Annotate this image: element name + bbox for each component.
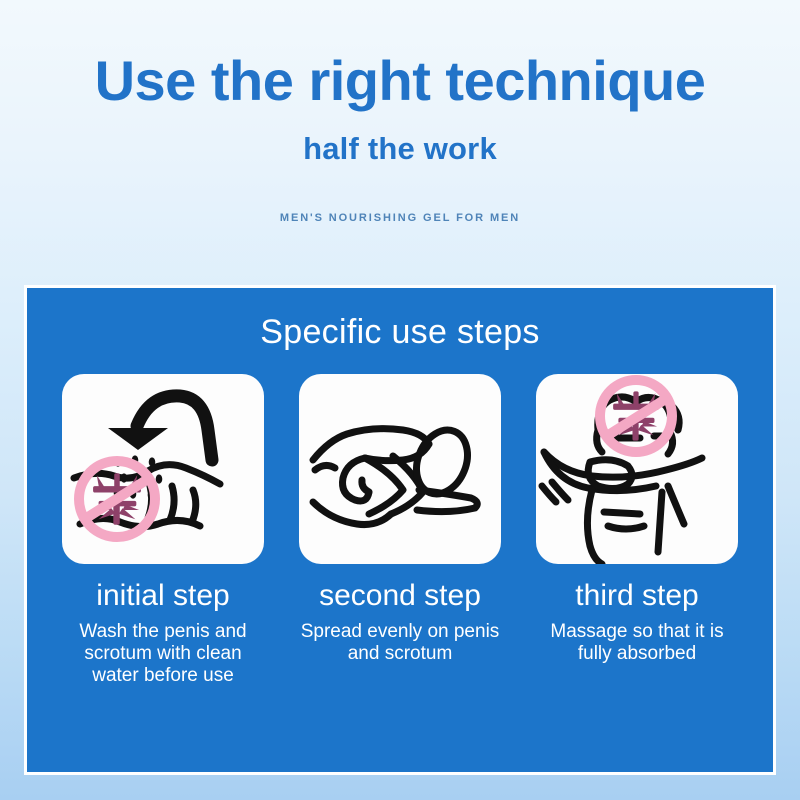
page-subtitle: half the work [0, 131, 800, 167]
steps-row: initial step Wash the penis and scrotum … [27, 374, 773, 687]
shower-washing-icon [62, 374, 264, 564]
step-3-title: third step [536, 579, 738, 612]
step-2-title: second step [299, 579, 501, 612]
step-2-illustration-card [299, 374, 501, 564]
step-item-1: initial step Wash the penis and scrotum … [62, 374, 264, 687]
step-item-2: second step Spread evenly on penis and s… [299, 374, 501, 687]
hand-massaging-icon [536, 374, 738, 564]
step-2-description: Spread evenly on penis and scrotum [299, 621, 501, 665]
step-3-illustration-card [536, 374, 738, 564]
step-item-3: third step Massage so that it is fully a… [536, 374, 738, 687]
step-3-description: Massage so that it is fully absorbed [536, 621, 738, 665]
steps-panel: Specific use steps [24, 285, 776, 775]
step-1-illustration-card [62, 374, 264, 564]
page-header: Use the right technique half the work ME… [0, 0, 800, 224]
page-title: Use the right technique [0, 52, 800, 111]
step-1-title: initial step [62, 579, 264, 612]
steps-panel-title: Specific use steps [27, 288, 773, 352]
hand-spreading-icon [299, 374, 501, 564]
forbidden-seal-icon [79, 461, 155, 537]
step-1-description: Wash the penis and scrotum with clean wa… [62, 621, 264, 687]
product-tagline: MEN'S NOURISHING GEL FOR MEN [0, 212, 800, 224]
